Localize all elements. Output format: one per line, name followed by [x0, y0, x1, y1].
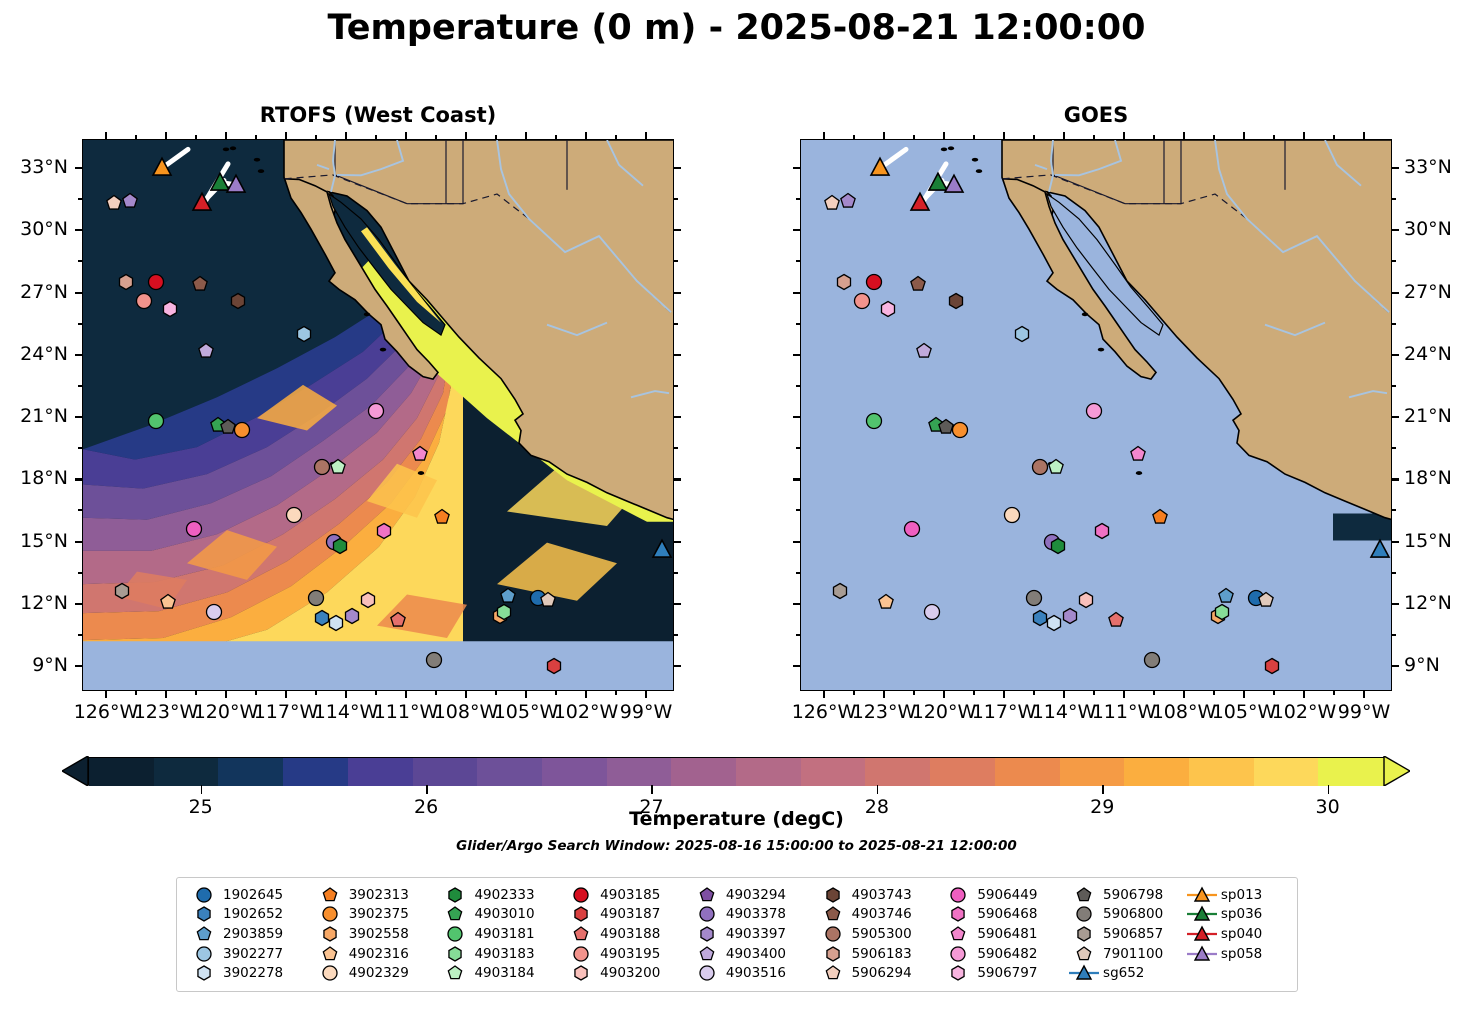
- axis-tick: [75, 665, 82, 667]
- legend-symbol-5906857: [1067, 925, 1101, 943]
- legend-item-5906482[interactable]: 5906482: [941, 944, 1067, 964]
- axis-tick: [1123, 691, 1125, 698]
- colorbar-tick: [877, 785, 879, 794]
- float-marker-5906481[interactable]: [1129, 445, 1148, 464]
- axis-tick: [495, 691, 497, 695]
- float-marker-5906797[interactable]: [161, 300, 180, 319]
- axis-tick: [1003, 691, 1005, 698]
- legend-symbol-sp036: [1185, 905, 1219, 923]
- legend-label: 4903183: [472, 946, 534, 962]
- legend-symbol-sp013: [1185, 886, 1219, 904]
- float-marker-5906468[interactable]: [1093, 522, 1112, 541]
- axis-tick: [1392, 260, 1396, 262]
- legend-symbol-4903743: [816, 886, 850, 904]
- colorbar-extend-r: [1383, 756, 1410, 786]
- legend-symbol-3902278: [187, 964, 221, 982]
- legend-label: 4903200: [598, 965, 660, 981]
- float-marker-4902329[interactable]: [285, 505, 304, 524]
- float-marker-7901100[interactable]: [539, 590, 558, 609]
- float-marker-4903184[interactable]: [1047, 457, 1066, 476]
- axis-tick: [1033, 691, 1035, 695]
- legend-label: 4903743: [850, 887, 912, 903]
- float-marker-5906449[interactable]: [903, 520, 922, 539]
- float-marker-2903859[interactable]: [499, 586, 518, 605]
- legend-label: 4903185: [598, 887, 660, 903]
- legend-item-3902277[interactable]: 3902277: [187, 944, 313, 964]
- legend-item-sp036[interactable]: sp036: [1185, 905, 1289, 925]
- float-marker-sp058[interactable]: [226, 175, 246, 195]
- legend-item-4903743[interactable]: 4903743: [816, 885, 942, 905]
- legend-symbol-4903181: [438, 925, 472, 943]
- float-marker-3902313[interactable]: [433, 507, 452, 526]
- legend-label: 4903378: [724, 906, 786, 922]
- axis-tick: [883, 691, 885, 698]
- axis-tick: [1153, 691, 1155, 695]
- legend-item-5906797[interactable]: 5906797: [941, 963, 1067, 983]
- colorbar-segment: [154, 758, 220, 786]
- axis-tick: [1303, 691, 1305, 698]
- axis-tick: [1392, 167, 1399, 169]
- float-marker-5906481[interactable]: [411, 445, 430, 464]
- axis-tick: [195, 691, 197, 695]
- legend-item-7901100[interactable]: 7901100: [1067, 944, 1185, 964]
- page-title: Temperature (0 m) - 2025-08-21 12:00:00: [0, 8, 1473, 48]
- legend-symbol-4902329: [313, 964, 347, 982]
- colorbar-extend-l: [62, 756, 89, 786]
- float-marker-5906857[interactable]: [113, 582, 132, 601]
- colorbar-tick: [1328, 785, 1330, 794]
- axis-tick: [793, 541, 800, 543]
- colorbar: 252627282930: [62, 757, 1410, 785]
- axis-tick: [615, 691, 617, 695]
- legend-symbol-7901100: [1067, 945, 1101, 963]
- float-marker-3902375[interactable]: [951, 420, 970, 439]
- legend-label: 4903184: [472, 965, 534, 981]
- axis-tick: [674, 229, 681, 231]
- legend-item-1902652[interactable]: 1902652: [187, 905, 313, 925]
- legend-label: 4903187: [598, 906, 660, 922]
- axis-tick: [793, 229, 800, 231]
- lat-label-left: 33°N: [0, 156, 68, 178]
- axis-tick: [943, 132, 945, 139]
- axis-tick: [1392, 665, 1399, 667]
- legend-item-5906798[interactable]: 5906798: [1067, 885, 1185, 905]
- legend-symbol-4903010: [438, 905, 472, 923]
- legend-symbol-2903859: [187, 925, 221, 943]
- colorbar-segment: [930, 758, 996, 786]
- colorbar-label: Temperature (degC): [0, 808, 1473, 830]
- float-marker-sp040[interactable]: [910, 193, 930, 213]
- axis-tick: [1392, 509, 1396, 511]
- legend-item-4902316[interactable]: 4902316: [313, 944, 439, 964]
- float-marker-4902333[interactable]: [331, 536, 350, 555]
- legend-label: 3902375: [347, 906, 409, 922]
- legend-symbol-5906294: [816, 964, 850, 982]
- axis-tick: [674, 509, 678, 511]
- axis-tick: [1213, 691, 1215, 695]
- axis-tick: [674, 541, 681, 543]
- lat-label-left: 30°N: [0, 218, 68, 240]
- axis-tick: [674, 603, 681, 605]
- legend-label: 5906481: [975, 926, 1037, 942]
- axis-tick: [225, 691, 227, 698]
- colorbar-tick: [1102, 785, 1104, 794]
- legend-item-1902645[interactable]: 1902645: [187, 885, 313, 905]
- float-marker-4903746[interactable]: [191, 275, 210, 294]
- axis-tick: [1392, 572, 1396, 574]
- float-marker-sg652[interactable]: [1370, 540, 1390, 560]
- legend-item-4903400[interactable]: 4903400: [690, 944, 816, 964]
- legend-label: 5906449: [975, 887, 1037, 903]
- float-marker-5906800[interactable]: [1025, 588, 1044, 607]
- float-marker-sp040[interactable]: [192, 193, 212, 213]
- axis-tick: [285, 132, 287, 139]
- legend-label: sp036: [1219, 906, 1262, 922]
- float-marker-3902277[interactable]: [295, 325, 314, 344]
- float-marker-3902277[interactable]: [1013, 325, 1032, 344]
- axis-tick: [255, 691, 257, 695]
- legend-symbol-4903185: [564, 886, 598, 904]
- legend-symbol-4903188: [564, 925, 598, 943]
- axis-tick: [1392, 198, 1396, 200]
- axis-tick: [105, 132, 107, 139]
- legend-label: 5906294: [850, 965, 912, 981]
- float-marker-sp058[interactable]: [944, 175, 964, 195]
- float-marker-4903195[interactable]: [135, 291, 154, 310]
- axis-tick: [585, 132, 587, 139]
- lat-label-left: 27°N: [0, 281, 68, 303]
- axis-tick: [793, 416, 800, 418]
- axis-tick: [1392, 354, 1399, 356]
- float-marker-4903743[interactable]: [947, 291, 966, 310]
- legend-item-5906183[interactable]: 5906183: [816, 944, 942, 964]
- legend-item-sp013[interactable]: sp013: [1185, 885, 1289, 905]
- float-marker-3902375[interactable]: [233, 420, 252, 439]
- axis-tick: [1333, 691, 1335, 695]
- float-marker-4903181[interactable]: [865, 412, 884, 431]
- legend-item-3902313[interactable]: 3902313: [313, 885, 439, 905]
- colorbar-segment: [1254, 758, 1320, 786]
- legend-item-3902558[interactable]: 3902558: [313, 924, 439, 944]
- legend-item-5906800[interactable]: 5906800: [1067, 905, 1185, 925]
- axis-tick: [345, 691, 347, 698]
- float-marker-4903181[interactable]: [147, 412, 166, 431]
- axis-tick: [1392, 447, 1396, 449]
- legend-symbol-4903516: [690, 964, 724, 982]
- axis-tick: [973, 691, 975, 695]
- axis-tick: [75, 416, 82, 418]
- colorbar-segment: [1124, 758, 1190, 786]
- legend-symbol-4903378: [690, 905, 724, 923]
- axis-tick: [345, 132, 347, 139]
- float-marker-5906183[interactable]: [835, 273, 854, 292]
- axis-tick: [105, 691, 107, 698]
- legend-item-4903200[interactable]: 4903200: [564, 963, 690, 983]
- legend-label: 3902313: [347, 887, 409, 903]
- float-marker-4903746[interactable]: [909, 275, 928, 294]
- legend-item-5906468[interactable]: 5906468: [941, 905, 1067, 925]
- legend-label: 4903188: [598, 926, 660, 942]
- legend-column: 49037434903746590530059061835906294: [816, 885, 942, 983]
- legend-item-5906857[interactable]: 5906857: [1067, 924, 1185, 944]
- float-marker-4903183[interactable]: [1213, 603, 1232, 622]
- legend-label: sg652: [1101, 965, 1144, 981]
- colorbar-tick: [201, 785, 203, 794]
- axis-tick: [1093, 691, 1095, 695]
- legend-item-sp058[interactable]: sp058: [1185, 944, 1289, 964]
- float-marker-4903187[interactable]: [1263, 657, 1282, 676]
- axis-tick: [1183, 132, 1185, 139]
- axis-tick: [1392, 541, 1399, 543]
- float-marker-5906482[interactable]: [1085, 401, 1104, 420]
- legend-item-4903185[interactable]: 4903185: [564, 885, 690, 905]
- legend-item-4903294[interactable]: 4903294: [690, 885, 816, 905]
- legend-label: 4903516: [724, 965, 786, 981]
- axis-tick: [75, 603, 82, 605]
- legend-item-5906449[interactable]: 5906449: [941, 885, 1067, 905]
- legend-item-5906481[interactable]: 5906481: [941, 924, 1067, 944]
- axis-tick: [1363, 132, 1365, 139]
- axis-tick: [793, 167, 800, 169]
- float-marker-5906449[interactable]: [185, 520, 204, 539]
- axis-tick: [75, 229, 82, 231]
- float-marker-4903294[interactable]: [121, 192, 140, 211]
- legend-item-3902278[interactable]: 3902278: [187, 963, 313, 983]
- legend-label: 5906797: [975, 965, 1037, 981]
- legend-label: 4903397: [724, 926, 786, 942]
- axis-tick: [435, 691, 437, 695]
- axis-tick: [674, 634, 678, 636]
- float-marker-4902316[interactable]: [159, 592, 178, 611]
- float-marker-sp013[interactable]: [870, 158, 890, 178]
- axis-tick: [585, 691, 587, 698]
- float-marker-4903183[interactable]: [495, 603, 514, 622]
- legend-item-4903378[interactable]: 4903378: [690, 905, 816, 925]
- float-marker-4903743[interactable]: [229, 291, 248, 310]
- axis-tick: [645, 132, 647, 139]
- legend-item-4902333[interactable]: 4902333: [438, 885, 564, 905]
- float-marker-4903187[interactable]: [545, 657, 564, 676]
- legend-label: 5906482: [975, 946, 1037, 962]
- float-marker-4903397[interactable]: [343, 607, 362, 626]
- axis-tick: [135, 691, 137, 695]
- legend-item-4903516[interactable]: 4903516: [690, 963, 816, 983]
- lat-label-right: 33°N: [1404, 156, 1473, 178]
- legend-item-4902329[interactable]: 4902329: [313, 963, 439, 983]
- float-marker-4903400[interactable]: [915, 341, 934, 360]
- legend-symbol-5905300: [816, 925, 850, 943]
- axis-tick: [1003, 132, 1005, 139]
- float-marker-4903195[interactable]: [853, 291, 872, 310]
- colorbar-segment: [89, 758, 155, 786]
- colorbar-segment: [1318, 758, 1384, 786]
- legend-label: 4902333: [472, 887, 534, 903]
- axis-tick: [1392, 229, 1399, 231]
- legend-symbol-5906481: [941, 925, 975, 943]
- axis-tick: [75, 541, 82, 543]
- float-marker-5906857[interactable]: [831, 582, 850, 601]
- axis-tick: [943, 691, 945, 698]
- axis-tick: [1063, 691, 1065, 698]
- legend-label: 2903859: [221, 926, 283, 942]
- float-marker-4903185[interactable]: [147, 273, 166, 292]
- legend-item-4903746[interactable]: 4903746: [816, 905, 942, 925]
- float-marker-4902333[interactable]: [1049, 536, 1068, 555]
- axis-tick: [793, 665, 800, 667]
- float-marker-3902313[interactable]: [1151, 507, 1170, 526]
- legend-column: 59064495906468590648159064825906797: [941, 885, 1067, 983]
- float-marker-4903188[interactable]: [1107, 611, 1126, 630]
- legend-symbol-3902375: [313, 905, 347, 923]
- legend-column: 49032944903378490339749034004903516: [690, 885, 816, 983]
- legend-item-4903183[interactable]: 4903183: [438, 944, 564, 964]
- panel-title-rtofs: RTOFS (West Coast): [82, 103, 674, 127]
- float-marker-2903859[interactable]: [1217, 586, 1236, 605]
- float-marker-5906482[interactable]: [367, 401, 386, 420]
- axis-tick: [1063, 132, 1065, 139]
- colorbar-segment: [607, 758, 673, 786]
- legend-item-3902375[interactable]: 3902375: [313, 905, 439, 925]
- lat-label-left: 24°N: [0, 343, 68, 365]
- float-marker-5906800b[interactable]: [1143, 650, 1162, 669]
- legend-item-4903184[interactable]: 4903184: [438, 963, 564, 983]
- float-marker-4902316[interactable]: [877, 592, 896, 611]
- legend-item-4903010[interactable]: 4903010: [438, 905, 564, 925]
- axis-tick: [1123, 132, 1125, 139]
- legend-label: 4903010: [472, 906, 534, 922]
- axis-tick: [75, 478, 82, 480]
- legend-column: sp013sp036sp040sp058: [1185, 885, 1289, 983]
- legend-item-4903187[interactable]: 4903187: [564, 905, 690, 925]
- axis-tick: [405, 691, 407, 698]
- legend-symbol-4903184: [438, 964, 472, 982]
- axis-tick: [405, 132, 407, 139]
- axis-tick: [1273, 691, 1275, 695]
- axis-tick: [1303, 132, 1305, 139]
- axis-tick: [375, 691, 377, 695]
- lat-label-right: 24°N: [1404, 343, 1473, 365]
- colorbar-segment: [283, 758, 349, 786]
- legend-item-4903181[interactable]: 4903181: [438, 924, 564, 944]
- float-marker-4903184[interactable]: [329, 457, 348, 476]
- axis-tick: [674, 447, 678, 449]
- axis-tick: [1183, 691, 1185, 698]
- lat-label-left: 9°N: [0, 654, 68, 676]
- legend-label: 5906800: [1101, 906, 1163, 922]
- legend-item-4903195[interactable]: 4903195: [564, 944, 690, 964]
- legend-symbol-5906800: [1067, 905, 1101, 923]
- axis-tick: [823, 132, 825, 139]
- float-marker-5906800b[interactable]: [425, 650, 444, 669]
- axis-tick: [165, 132, 167, 139]
- colorbar-tick: [651, 785, 653, 794]
- legend-symbol-4902316: [313, 945, 347, 963]
- legend-symbol-4903746: [816, 905, 850, 923]
- float-marker-4903516[interactable]: [923, 603, 942, 622]
- legend-label: 3902277: [221, 946, 283, 962]
- float-marker-sp013[interactable]: [152, 158, 172, 178]
- axis-tick: [1243, 132, 1245, 139]
- legend-symbol-5906482: [941, 945, 975, 963]
- lat-label-right: 12°N: [1404, 592, 1473, 614]
- legend-label: 7901100: [1101, 946, 1163, 962]
- float-marker-5906800[interactable]: [307, 588, 326, 607]
- legend-item-sp040[interactable]: sp040: [1185, 924, 1289, 944]
- colorbar-segment: [218, 758, 284, 786]
- legend-label: 4902316: [347, 946, 409, 962]
- legend-symbol-4903397: [690, 925, 724, 943]
- colorbar-segment: [542, 758, 608, 786]
- float-marker-4903188[interactable]: [389, 611, 408, 630]
- axis-tick: [674, 416, 681, 418]
- axis-tick: [1392, 416, 1399, 418]
- legend-column: 19026451902652290385939022773902278: [187, 885, 313, 983]
- legend-item-4903397[interactable]: 4903397: [690, 924, 816, 944]
- legend-symbol-5906468: [941, 905, 975, 923]
- axis-tick: [75, 354, 82, 356]
- legend-symbol-4903195: [564, 945, 598, 963]
- axis-tick: [1243, 691, 1245, 698]
- legend-label: 5906857: [1101, 926, 1163, 942]
- axis-tick: [165, 691, 167, 698]
- float-marker-4903185[interactable]: [865, 273, 884, 292]
- float-marker-4902329[interactable]: [1003, 505, 1022, 524]
- axis-tick: [1392, 478, 1399, 480]
- axis-tick: [525, 132, 527, 139]
- axis-tick: [793, 478, 800, 480]
- legend-symbol-sp058: [1185, 945, 1219, 963]
- axis-tick: [674, 292, 681, 294]
- legend-item-4903188[interactable]: 4903188: [564, 924, 690, 944]
- axis-tick: [674, 478, 681, 480]
- axis-tick: [1392, 385, 1396, 387]
- search-window-caption: Glider/Argo Search Window: 2025-08-16 15…: [0, 838, 1473, 854]
- legend-label: 4903294: [724, 887, 786, 903]
- float-marker-7901100[interactable]: [1257, 590, 1276, 609]
- axis-tick: [465, 132, 467, 139]
- legend-column: 49031854903187490318849031954903200: [564, 885, 690, 983]
- float-marker-5906468[interactable]: [375, 522, 394, 541]
- legend-label: sp013: [1219, 887, 1262, 903]
- axis-tick: [525, 691, 527, 698]
- axis-tick: [1392, 603, 1399, 605]
- legend-label: 4903195: [598, 946, 660, 962]
- float-marker-sg652[interactable]: [652, 540, 672, 560]
- float-marker-4903516[interactable]: [205, 603, 224, 622]
- float-marker-4903294[interactable]: [839, 192, 858, 211]
- legend-item-2903859[interactable]: 2903859: [187, 924, 313, 944]
- lat-label-left: 18°N: [0, 467, 68, 489]
- legend-item-sg652[interactable]: sg652: [1067, 963, 1185, 983]
- axis-tick: [674, 167, 681, 169]
- legend-item-5905300[interactable]: 5905300: [816, 924, 942, 944]
- legend-label: 5906183: [850, 946, 912, 962]
- float-marker-4903400[interactable]: [197, 341, 216, 360]
- float-marker-5906183[interactable]: [117, 273, 136, 292]
- lat-label-left: 21°N: [0, 405, 68, 427]
- legend-symbol-4903183: [438, 945, 472, 963]
- axis-tick: [674, 385, 678, 387]
- legend-label: 5906468: [975, 906, 1037, 922]
- legend-item-5906294[interactable]: 5906294: [816, 963, 942, 983]
- axis-tick: [793, 354, 800, 356]
- float-marker-4903397[interactable]: [1061, 607, 1080, 626]
- legend-symbol-3902277: [187, 945, 221, 963]
- legend-label: 5906798: [1101, 887, 1163, 903]
- float-marker-5906797[interactable]: [879, 300, 898, 319]
- axis-tick: [793, 603, 800, 605]
- lon-label: 99°W: [1324, 701, 1404, 723]
